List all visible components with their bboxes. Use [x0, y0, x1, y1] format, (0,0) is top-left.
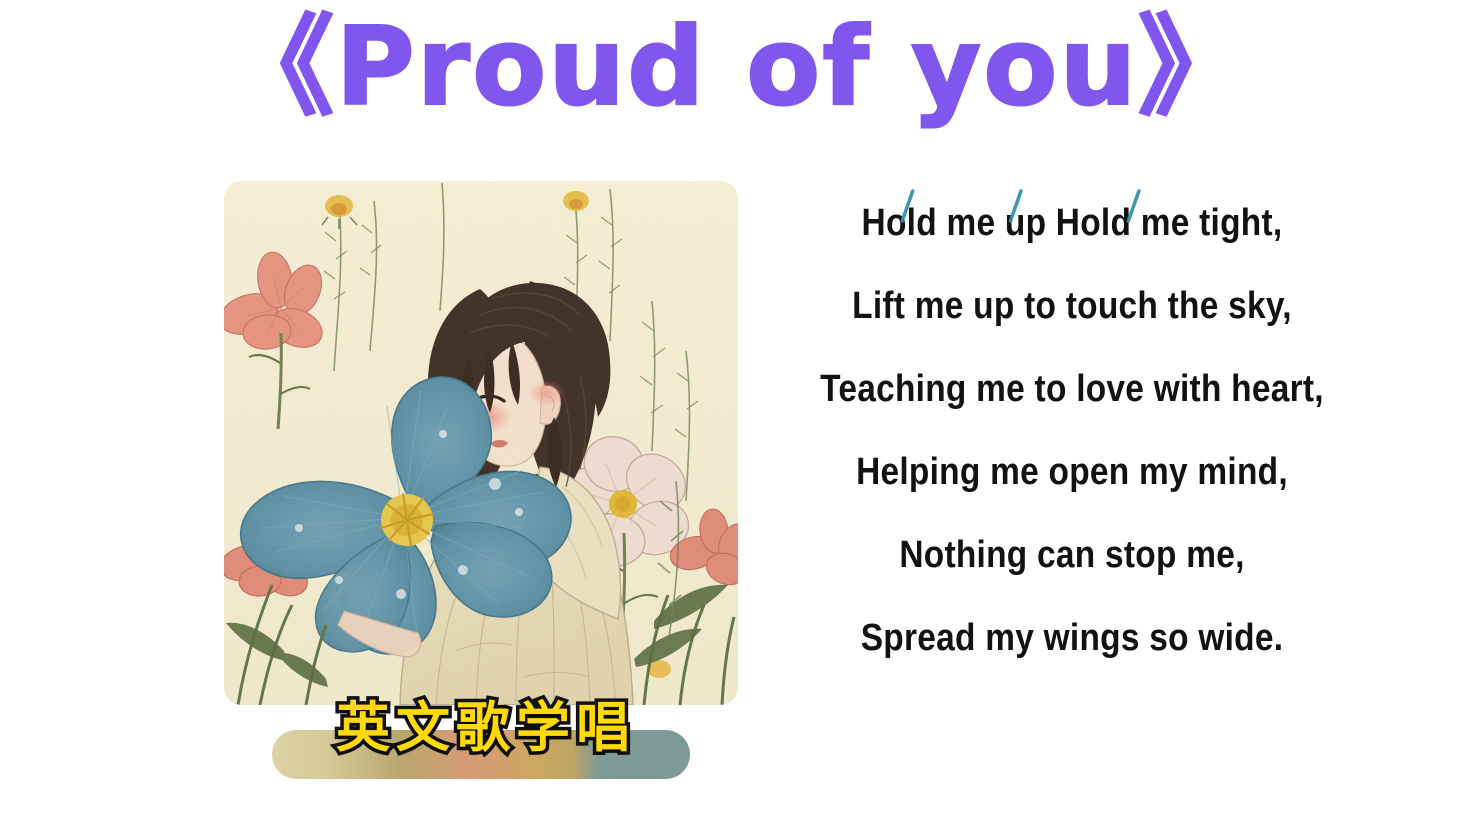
slide-canvas: 《Proud of you》: [0, 0, 1474, 829]
lyric-line-1: Hold me up Hold me tight,: [782, 182, 1363, 265]
category-badge: 英文歌学唱: [272, 730, 690, 779]
lyric-line-6: Spread my wings so wide.: [782, 597, 1363, 680]
page-title: 《Proud of you》: [0, 8, 1474, 128]
lyric-line-2: Lift me up to touch the sky,: [782, 265, 1363, 348]
girl-with-flower-illustration: [224, 181, 738, 705]
lyric-line-4: Helping me open my mind,: [782, 431, 1363, 514]
lyrics-block: Hold me up Hold me tight, Lift me up to …: [742, 182, 1402, 680]
lyric-line-1-text: Hold me up Hold me tight,: [862, 202, 1283, 244]
lyric-line-3: Teaching me to love with heart,: [782, 348, 1363, 431]
lyric-line-5: Nothing can stop me,: [782, 514, 1363, 597]
illustration-card: [224, 181, 738, 705]
badge-label: 英文歌学唱: [306, 698, 666, 758]
